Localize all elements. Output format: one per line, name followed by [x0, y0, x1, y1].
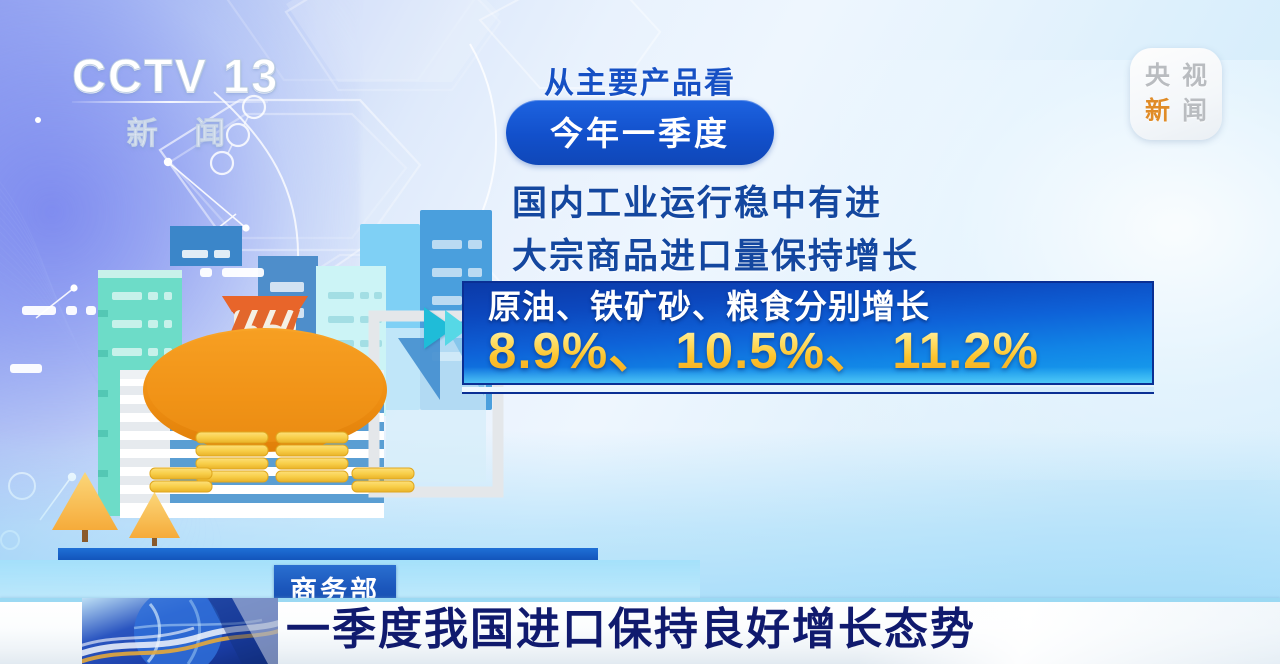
- body-line-1: 国内工业运行稳中有进: [512, 178, 919, 231]
- broadcast-screen: CCTV 13 新 闻 央 视 新 闻 从主要产品看 今年一季度 国内工业运行稳…: [0, 0, 1280, 664]
- period-pill: 今年一季度: [506, 100, 774, 165]
- body-line-2: 大宗商品进口量保持增长: [512, 231, 919, 284]
- ground-bar: [58, 548, 598, 560]
- body-text-block: 国内工业运行稳中有进 大宗商品进口量保持增长: [512, 178, 919, 283]
- lower-third-headline: 一季度我国进口保持良好增长态势: [286, 604, 976, 656]
- globe-graphic-icon: [82, 598, 278, 664]
- brand-char-4: 闻: [1182, 99, 1207, 124]
- brand-char-3: 新: [1145, 99, 1170, 124]
- banner-caption: 原油、铁矿砂、粮食分别增长: [488, 288, 1152, 326]
- highlight-banner: 原油、铁矿砂、粮食分别增长 8.9%、 10.5%、 11.2%: [462, 281, 1154, 385]
- kicker-text: 从主要产品看: [0, 58, 1280, 102]
- banner-underline: [462, 387, 1154, 394]
- banner-values: 8.9%、 10.5%、 11.2%: [488, 324, 1152, 378]
- highlight-banner-wrapper: 原油、铁矿砂、粮食分别增长 8.9%、 10.5%、 11.2%: [462, 281, 1154, 394]
